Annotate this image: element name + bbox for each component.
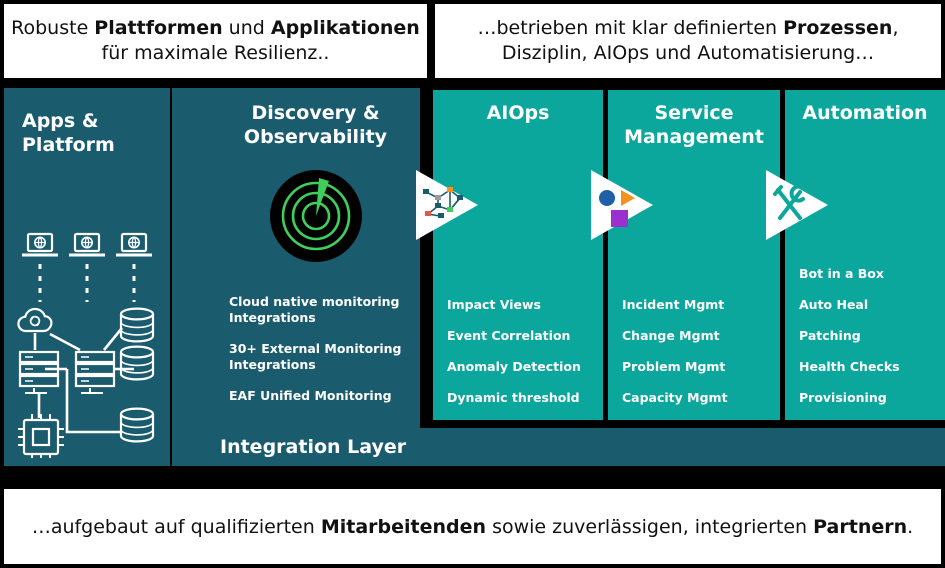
database-icon [121, 409, 153, 442]
list-item: Health Checks [799, 359, 931, 375]
tools-arrow [760, 168, 832, 242]
laptop-globe-icon [22, 234, 58, 255]
list-item: Capacity Mgmt [622, 390, 766, 406]
panel-aiops-items: Impact Views Event Correlation Anomaly D… [433, 297, 603, 406]
dashed-connector [40, 264, 134, 302]
server-rack-icon [76, 352, 114, 393]
apps-platform-panel: Apps & Platform [4, 88, 170, 466]
list-item: Bot in a Box [799, 266, 931, 282]
database-icon [121, 309, 153, 342]
panel-discovery-observability[interactable]: Discovery & Observability Cloud native m… [213, 90, 418, 420]
list-item: 30+ External Monitoring Integrations [229, 341, 402, 373]
list-item: EAF Unified Monitoring [229, 388, 402, 404]
header-right-line1-post: , [892, 17, 898, 39]
panel-aiops-title: AIOps [433, 102, 603, 126]
radar-icon [270, 170, 362, 262]
list-item: Change Mgmt [622, 328, 766, 344]
integration-layer-bar: Integration Layer [172, 428, 945, 466]
panel-automation-title: Automation [785, 102, 945, 126]
header-left-bold-plattformen: Plattformen [94, 17, 222, 39]
apps-platform-title: Apps & Platform [22, 110, 152, 158]
header-right-bold-prozessen: Prozessen [783, 17, 892, 39]
infrastructure-diagram [12, 228, 162, 458]
panel-aiops[interactable]: AIOps Impact Views Event Correlation Ano… [433, 90, 603, 420]
header-left-bold-applikationen: Applikationen [271, 17, 420, 39]
footer-bold-mitarbeitenden: Mitarbeitenden [321, 516, 486, 538]
server-rack-icon [20, 352, 58, 393]
list-item: Dynamic threshold [447, 390, 589, 406]
footer-pre: …aufgebaut auf qualifizierten [32, 516, 321, 538]
panel-service-title: Service Management [608, 102, 780, 150]
laptop-globe-icon [116, 234, 152, 255]
integration-layer-label: Integration Layer [220, 436, 406, 458]
list-item: Problem Mgmt [622, 359, 766, 375]
header-right-line2: Disziplin, AIOps und Automatisierung… [502, 42, 874, 64]
header-left-statement: Robuste Plattformen und Applikationen fü… [4, 4, 427, 78]
header-right-line1-pre: …betrieben mit klar definierten [478, 17, 784, 39]
network-topology-arrow [410, 168, 482, 242]
panel-discovery-title: Discovery & Observability [213, 102, 418, 150]
footer-bold-partnern: Partnern [813, 516, 907, 538]
panel-automation[interactable]: Automation Bot in a Box Auto Heal Patchi… [785, 90, 945, 420]
panel-discovery-items: Cloud native monitoring Integrations 30+… [213, 294, 418, 404]
list-item: Event Correlation [447, 328, 589, 344]
list-item: Anomaly Detection [447, 359, 589, 375]
footer-statement: …aufgebaut auf qualifizierten Mitarbeite… [4, 489, 941, 564]
list-item: Incident Mgmt [622, 297, 766, 313]
laptop-globe-icon [69, 234, 105, 255]
header-left-line1-mid: und [223, 17, 271, 39]
infographic-root: Robuste Plattformen und Applikationen fü… [0, 0, 945, 568]
cpu-chip-icon [18, 414, 64, 458]
list-item: Cloud native monitoring Integrations [229, 294, 402, 326]
footer-mid: sowie zuverlässigen, integrierten [486, 516, 813, 538]
shapes-arrow [585, 168, 657, 242]
panel-service-items: Incident Mgmt Change Mgmt Problem Mgmt C… [608, 297, 780, 406]
header-left-line2: für maximale Resilienz.. [102, 42, 330, 64]
list-item: Auto Heal [799, 297, 931, 313]
header-left-line1-pre: Robuste [11, 17, 94, 39]
database-icon [121, 347, 153, 380]
panel-service-management[interactable]: Service Management Incident Mgmt Change … [608, 90, 780, 420]
footer-post: . [907, 516, 913, 538]
panel-automation-items: Bot in a Box Auto Heal Patching Health C… [785, 266, 945, 406]
list-item: Impact Views [447, 297, 589, 313]
cloud-sync-icon [18, 309, 51, 331]
header-right-statement: …betrieben mit klar definierten Prozesse… [435, 4, 941, 78]
list-item: Provisioning [799, 390, 931, 406]
list-item: Patching [799, 328, 931, 344]
